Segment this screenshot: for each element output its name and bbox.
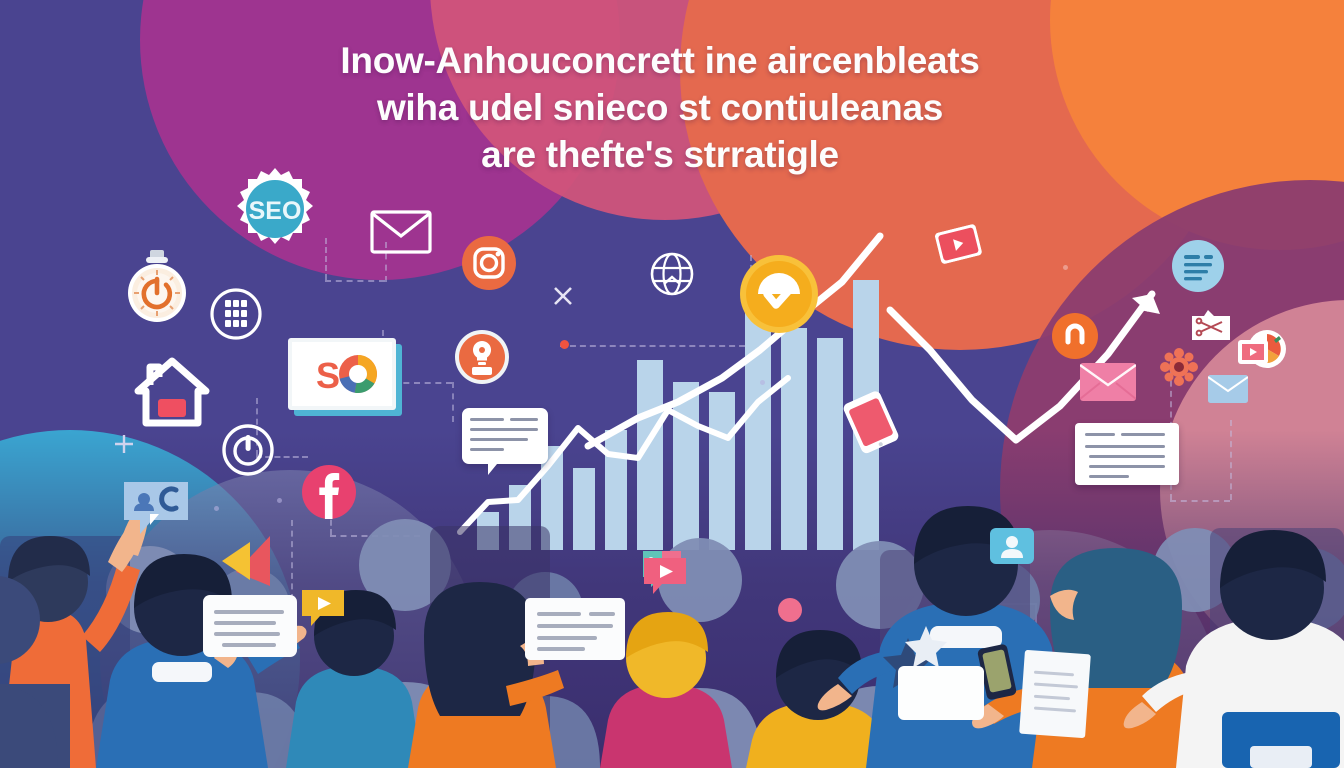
bubble-card-crowd-right — [898, 666, 984, 720]
gear-flower-icon[interactable] — [1160, 348, 1198, 391]
envelope-outline-icon[interactable] — [370, 210, 432, 259]
document-blue-icon[interactable] — [1172, 240, 1224, 297]
instagram-icon[interactable] — [462, 236, 516, 295]
document-card-crowd-center — [525, 598, 625, 660]
lightbulb-badge-icon[interactable] — [455, 330, 509, 389]
check-badge-icon[interactable] — [740, 255, 818, 338]
video-tag-small-icon[interactable] — [1238, 340, 1268, 369]
dot-pink-crowd — [778, 598, 802, 622]
svg-text:SEO: SEO — [249, 197, 302, 225]
stopwatch-icon[interactable] — [122, 248, 192, 329]
paper-sheet-crowd — [1019, 650, 1091, 738]
accent-dot-faint-1 — [1063, 265, 1068, 270]
home-icon[interactable] — [132, 355, 212, 436]
headline-line-3: are thefte's strratigle — [250, 132, 1070, 179]
scissors-card-icon[interactable] — [1190, 308, 1232, 349]
crowd-audience — [0, 440, 1344, 768]
globe-badge-icon[interactable] — [650, 252, 694, 301]
cross-mark-icon — [552, 285, 574, 312]
page-title: Inow-Anhouconcrett ine aircenbleats wiha… — [250, 38, 1070, 179]
marketing-illustration: Inow-Anhouconcrett ine aircenbleats wiha… — [0, 0, 1344, 768]
headline-line-1: Inow-Anhouconcrett ine aircenbleats — [250, 38, 1070, 85]
keypad-icon[interactable] — [210, 288, 262, 345]
trend-line-upper — [588, 236, 880, 446]
envelope-blue-icon[interactable] — [1208, 375, 1248, 408]
crowd-play-bubble-icon[interactable] — [642, 556, 688, 603]
headline-line-2: wiha udel snieco st contiuleanas — [250, 85, 1070, 132]
play-button-icon[interactable] — [216, 532, 276, 595]
contact-bubble-icon[interactable] — [120, 478, 192, 545]
accent-dot-orange — [560, 340, 569, 349]
so-analytics-card-icon[interactable]: SO — [286, 330, 406, 425]
magnet-badge-icon[interactable] — [1052, 313, 1098, 364]
document-card-crowd-left — [203, 595, 297, 657]
video-tag-yellow-icon[interactable] — [300, 588, 346, 635]
envelope-pink-icon[interactable] — [1080, 363, 1136, 406]
accent-dot-faint-2 — [760, 380, 765, 385]
user-tag-icon[interactable] — [990, 528, 1034, 573]
